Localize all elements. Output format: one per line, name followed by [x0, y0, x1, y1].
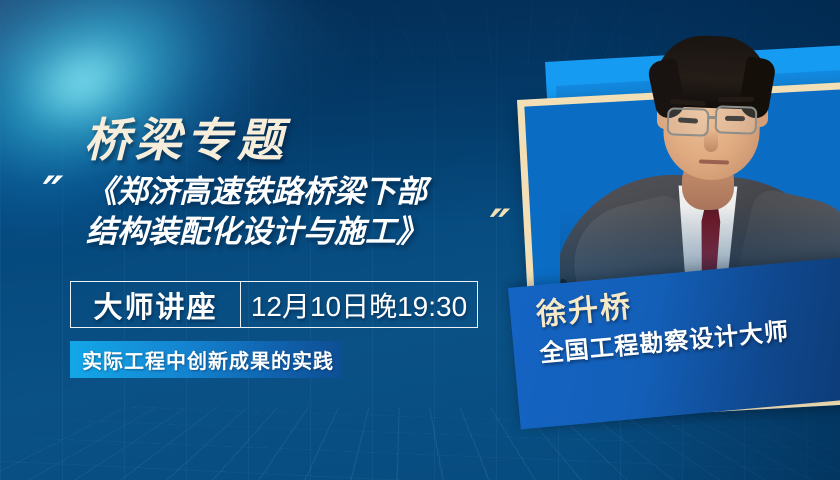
- lecture-title: 《郑济高速铁路桥梁下部 结构装配化设计与施工》: [86, 172, 486, 253]
- tagline-ribbon: 实际工程中创新成果的实践: [70, 341, 342, 378]
- tagline-text: 实际工程中创新成果的实践: [82, 345, 334, 374]
- lecture-title-line-1: 《郑济高速铁路桥梁下部: [86, 172, 486, 212]
- schedule-badge: 大师讲座 12月10日晚19:30: [70, 281, 478, 328]
- badge-category: 大师讲座: [71, 282, 241, 327]
- badge-datetime: 12月10日晚19:30: [241, 282, 477, 327]
- lecture-title-line-2: 结构装配化设计与施工》: [86, 212, 486, 252]
- page-title: 桥梁专题: [84, 104, 288, 170]
- lecture-poster: 徐升桥 全国工程勘察设计大师 桥梁专题 ″ ″ 《郑济高速铁路桥梁下部 结构装配…: [0, 0, 840, 480]
